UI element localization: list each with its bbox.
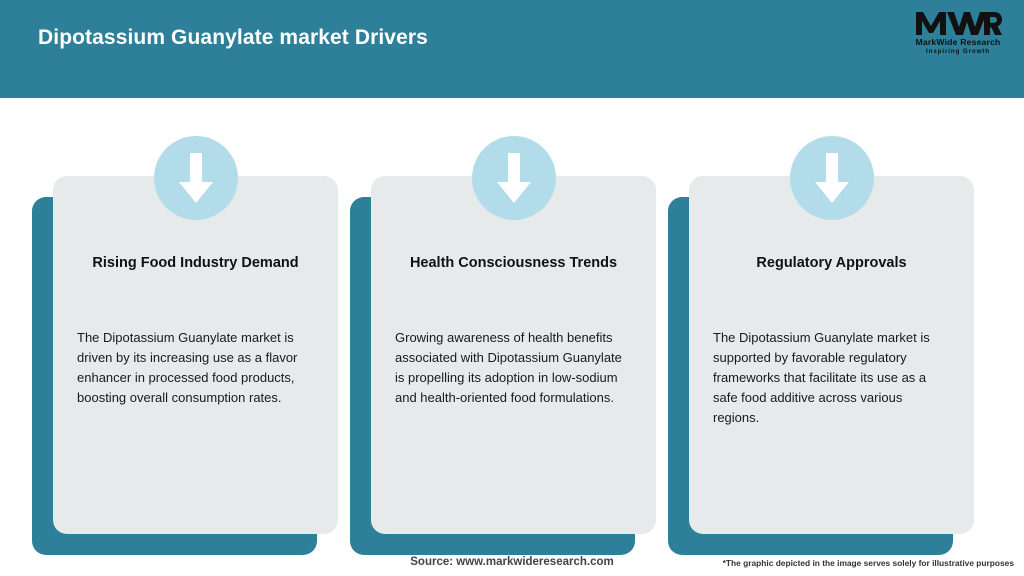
disclaimer-note: *The graphic depicted in the image serve… — [723, 558, 1014, 568]
driver-card-2[interactable]: Health Consciousness Trends Growing awar… — [371, 176, 656, 534]
card-title: Health Consciousness Trends — [385, 254, 642, 272]
driver-card-1[interactable]: Rising Food Industry Demand The Dipotass… — [53, 176, 338, 534]
card-description: The Dipotassium Guanylate market is supp… — [713, 328, 950, 427]
down-arrow-icon — [790, 136, 874, 220]
driver-card-3[interactable]: Regulatory Approvals The Dipotassium Gua… — [689, 176, 974, 534]
slide-canvas: Dipotassium Guanylate market Drivers Mar… — [0, 0, 1024, 576]
drivers-card-group: Rising Food Industry Demand The Dipotass… — [0, 0, 1024, 576]
down-arrow-icon — [154, 136, 238, 220]
down-arrow-icon — [472, 136, 556, 220]
card-description: Growing awareness of health benefits ass… — [395, 328, 632, 408]
card-title: Rising Food Industry Demand — [67, 254, 324, 272]
card-description: The Dipotassium Guanylate market is driv… — [77, 328, 314, 408]
card-title: Regulatory Approvals — [703, 254, 960, 272]
